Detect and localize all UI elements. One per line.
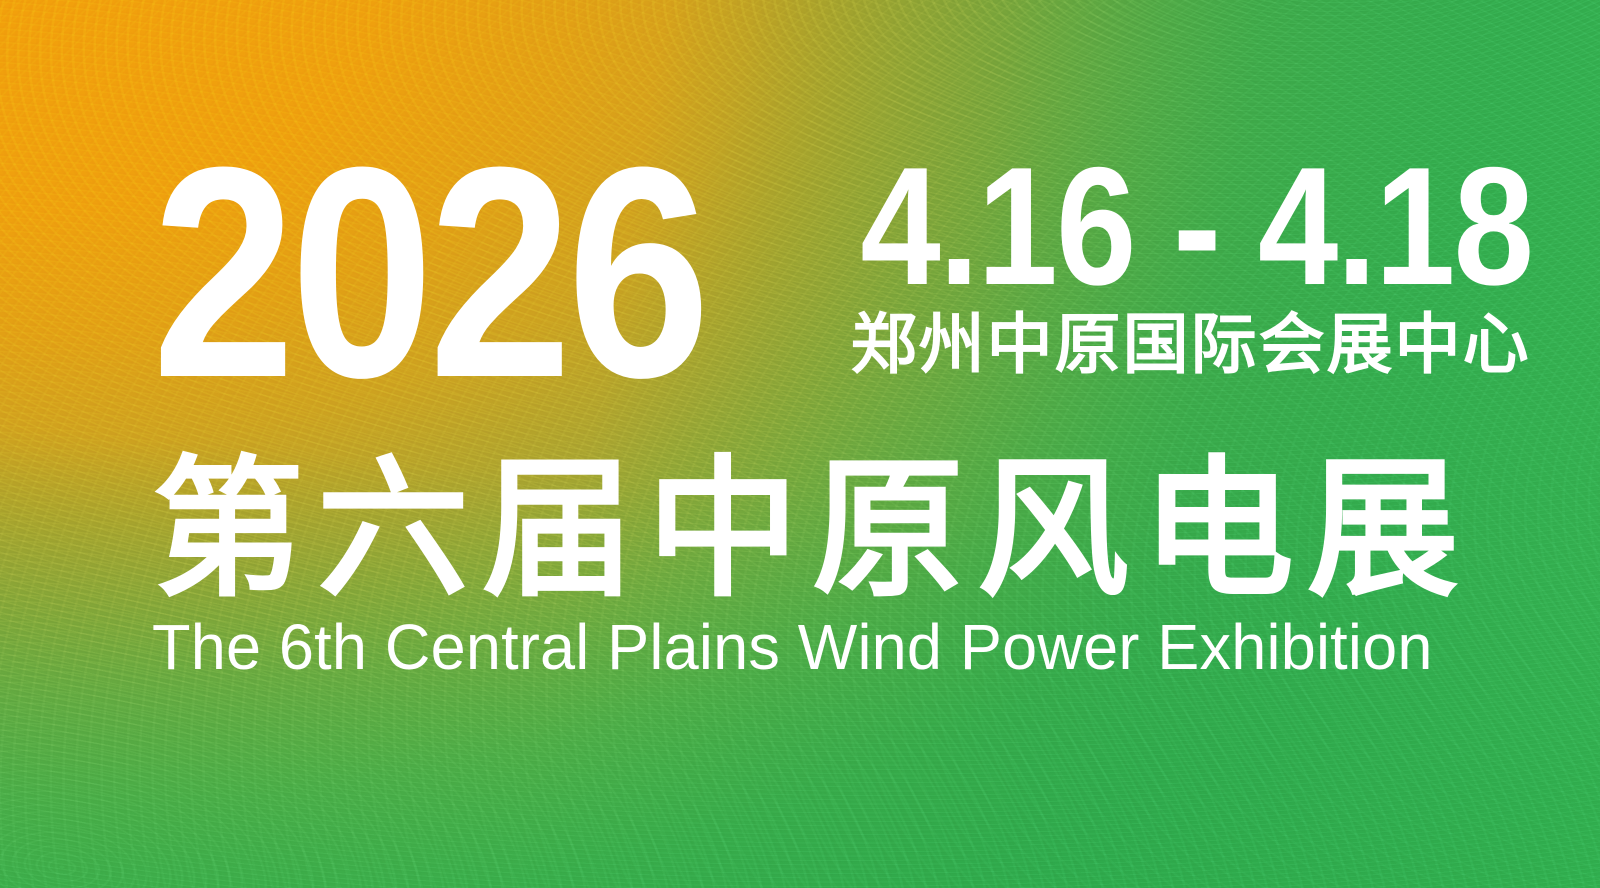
title-block: 第六届中原风电展 The 6th Central Plains Wind Pow… — [152, 452, 1442, 680]
event-date-range: 4.16 - 4.18 — [861, 154, 1533, 298]
event-title-chinese: 第六届中原风电展 — [152, 452, 1442, 609]
date-and-venue-block: 4.16 - 4.18 郑州中原国际会展中心 — [751, 154, 1532, 378]
banner-content: 2026 4.16 - 4.18 郑州中原国际会展中心 第六届中原风电展 The… — [0, 0, 1600, 888]
headline-row: 2026 4.16 - 4.18 郑州中原国际会展中心 — [152, 148, 1440, 392]
event-title-english: The 6th Central Plains Wind Power Exhibi… — [152, 615, 1423, 680]
event-venue: 郑州中原国际会展中心 — [851, 312, 1531, 378]
event-banner: 2026 4.16 - 4.18 郑州中原国际会展中心 第六届中原风电展 The… — [0, 0, 1600, 888]
event-year: 2026 — [152, 152, 705, 392]
